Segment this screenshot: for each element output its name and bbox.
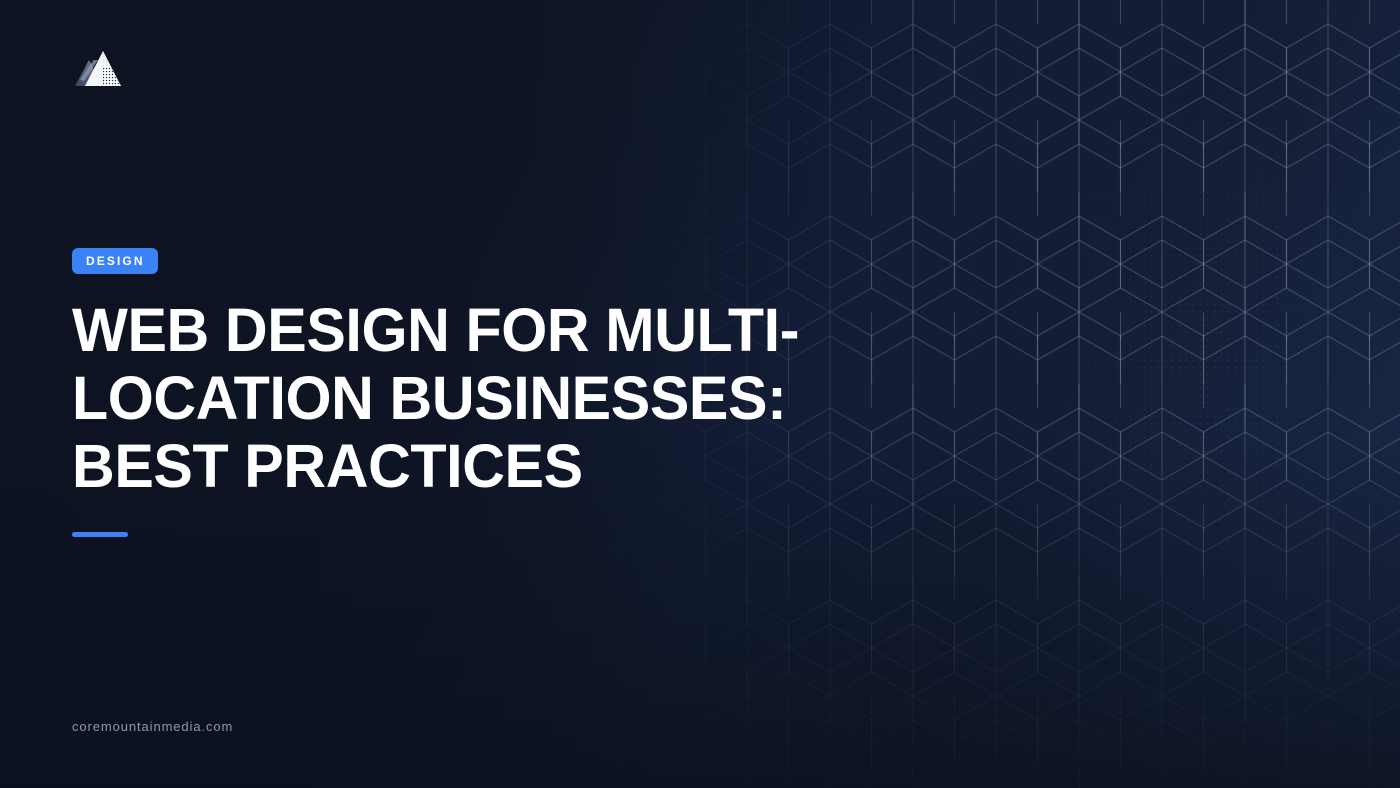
- page-title: WEB DESIGN FOR MULTI- LOCATION BUSINESSE…: [72, 296, 926, 500]
- category-badge[interactable]: DESIGN: [72, 248, 158, 274]
- title-line-2: LOCATION BUSINESSES:: [72, 364, 786, 432]
- title-line-3: BEST PRACTICES: [72, 432, 583, 500]
- hero-content: DESIGN WEB DESIGN FOR MULTI- LOCATION BU…: [72, 0, 972, 788]
- social-card-slide: DESIGN WEB DESIGN FOR MULTI- LOCATION BU…: [0, 0, 1400, 788]
- site-url[interactable]: coremountainmedia.com: [72, 719, 233, 735]
- accent-underline: [72, 532, 128, 537]
- title-line-1: WEB DESIGN FOR MULTI-: [72, 296, 799, 364]
